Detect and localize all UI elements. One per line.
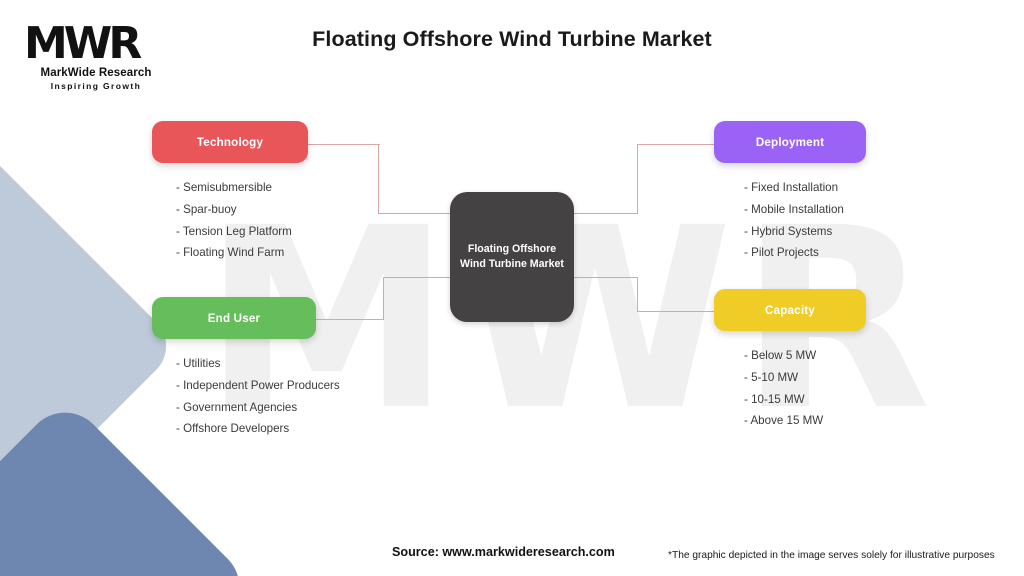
connector-capacity-v (637, 277, 638, 312)
connector-enduser-h2 (383, 277, 453, 278)
list-item: - 5-10 MW (744, 369, 866, 387)
connector-enduser-h1 (316, 319, 384, 320)
list-item: - Hybrid Systems (744, 223, 866, 241)
disclaimer-text: *The graphic depicted in the image serve… (668, 550, 995, 561)
list-item: - Semisubmersible (176, 179, 308, 197)
list-item: - Below 5 MW (744, 347, 866, 365)
branch-items-end-user: - Utilities - Independent Power Producer… (152, 355, 316, 438)
branch-items-technology: - Semisubmersible - Spar-buoy - Tension … (152, 179, 308, 262)
list-item: - Independent Power Producers (176, 377, 316, 395)
branch-technology: Technology - Semisubmersible - Spar-buoy… (152, 121, 308, 266)
source-label: Source: www.markwideresearch.com (392, 545, 615, 559)
branch-end-user: End User - Utilities - Independent Power… (152, 297, 316, 442)
connector-capacity-h2 (637, 311, 715, 312)
list-item: - Floating Wind Farm (176, 244, 308, 262)
branch-items-capacity: - Below 5 MW - 5-10 MW - 10-15 MW - Abov… (714, 347, 866, 430)
page-title: Floating Offshore Wind Turbine Market (0, 27, 1024, 52)
branch-label-capacity[interactable]: Capacity (714, 289, 866, 331)
connector-deployment-h2 (637, 144, 715, 145)
list-item: - 10-15 MW (744, 391, 866, 409)
connector-technology-h1 (308, 144, 380, 145)
branch-deployment: Deployment - Fixed Installation - Mobile… (714, 121, 866, 266)
branch-items-deployment: - Fixed Installation - Mobile Installati… (714, 179, 866, 262)
branch-label-end-user[interactable]: End User (152, 297, 316, 339)
list-item: - Pilot Projects (744, 244, 866, 262)
logo-company-name: MarkWide Research (16, 67, 176, 79)
list-item: - Fixed Installation (744, 179, 866, 197)
branch-label-deployment[interactable]: Deployment (714, 121, 866, 163)
connector-capacity-h1 (572, 277, 638, 278)
connector-deployment-h1 (572, 213, 638, 214)
list-item: - Utilities (176, 355, 316, 373)
list-item: - Above 15 MW (744, 412, 866, 430)
list-item: - Mobile Installation (744, 201, 866, 219)
list-item: - Tension Leg Platform (176, 223, 308, 241)
hub-title-line1: Floating Offshore (468, 243, 556, 255)
branch-capacity: Capacity - Below 5 MW - 5-10 MW - 10-15 … (714, 289, 866, 434)
connector-enduser-v (383, 277, 384, 320)
list-item: - Offshore Developers (176, 420, 316, 438)
connector-deployment-v (637, 144, 638, 214)
infographic-canvas: MWR MWR MarkWide Research Inspiring Grow… (0, 0, 1024, 576)
list-item: - Government Agencies (176, 399, 316, 417)
list-item: - Spar-buoy (176, 201, 308, 219)
connector-technology-v (378, 144, 379, 214)
logo-tagline: Inspiring Growth (16, 81, 176, 91)
hub-title-line2: Wind Turbine Market (460, 258, 564, 270)
connector-technology-h2 (378, 213, 452, 214)
hub-node: Floating Offshore Wind Turbine Market (450, 192, 574, 322)
branch-label-technology[interactable]: Technology (152, 121, 308, 163)
